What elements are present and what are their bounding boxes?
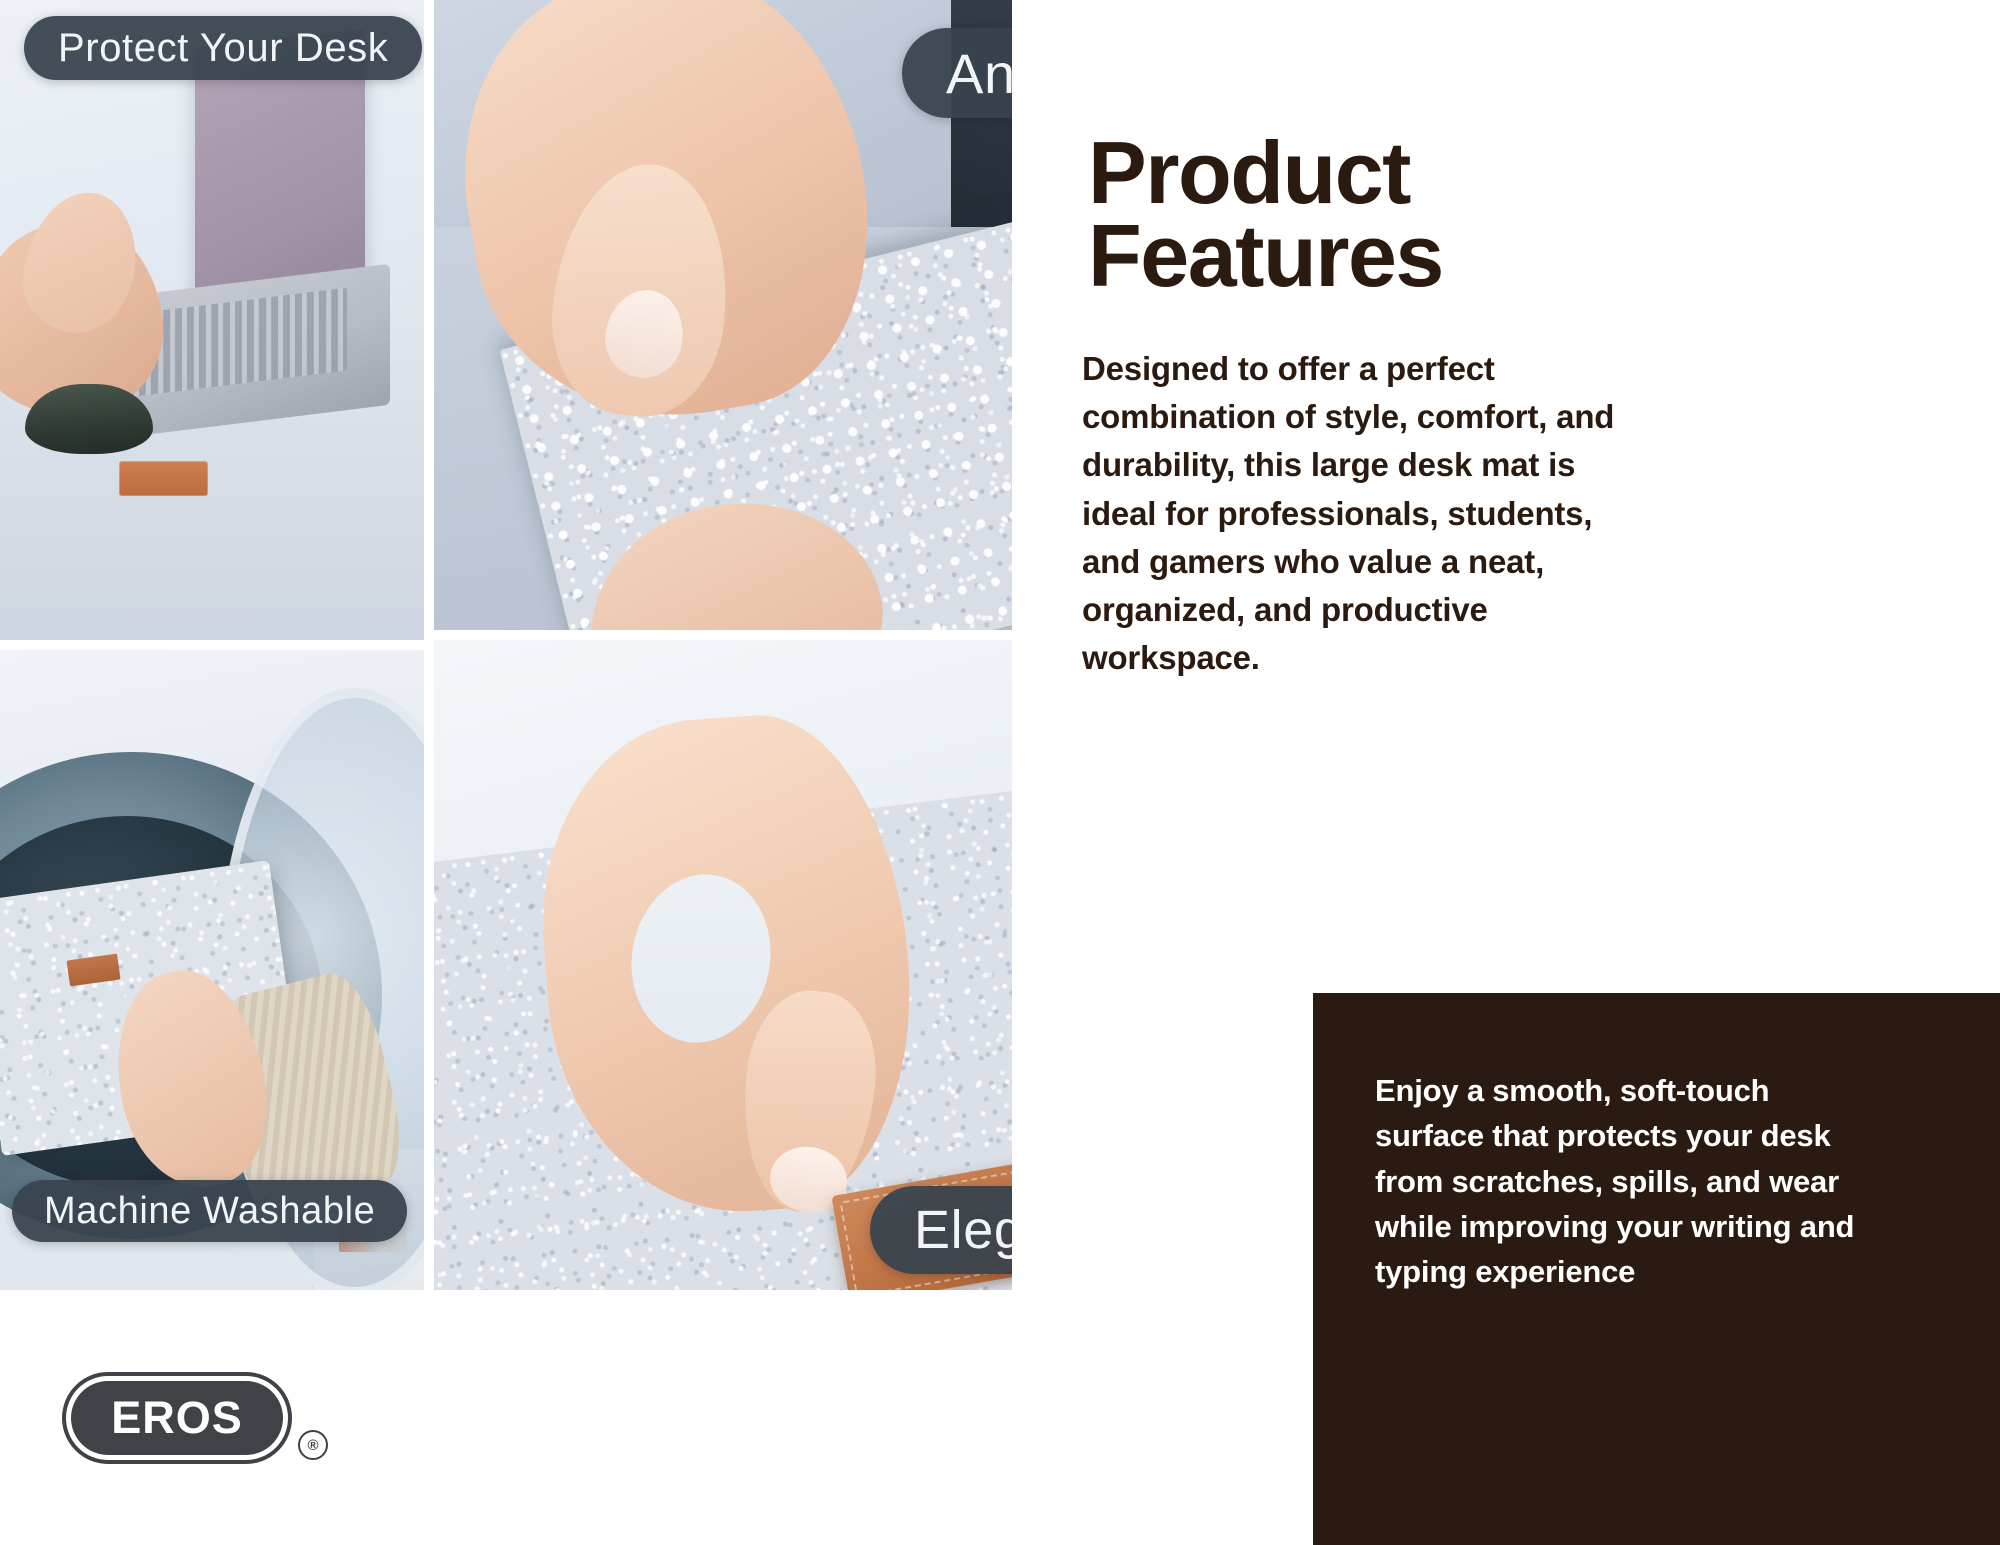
registered-trademark-icon: ® <box>298 1430 328 1460</box>
gallery-tile-protect-your-desk[interactable]: Protect Your Desk <box>0 0 424 640</box>
label-machine-washable: Machine Washable <box>12 1180 407 1242</box>
product-image-gallery: Protect Your Desk Anti-Slip Design <box>0 0 1012 1290</box>
page-title-line-2: Features <box>1088 215 1648 298</box>
label-protect-your-desk: Protect Your Desk <box>24 16 422 80</box>
brand-logo: EROS ® <box>62 1372 292 1464</box>
label-anti-slip-design: Anti-Slip Design <box>902 28 1012 118</box>
photo-protect-your-desk <box>0 0 424 640</box>
highlight-callout-text: Enjoy a smooth, soft-touch surface that … <box>1375 1068 1885 1294</box>
computer-mouse <box>25 384 152 454</box>
page-title: Product Features <box>1088 132 1648 297</box>
logo-pill-icon: EROS <box>71 1381 283 1455</box>
gallery-tile-elegant-to-the-touch[interactable]: EROS ® Elegant to the Touch <box>434 640 1012 1290</box>
logo-text: EROS <box>111 1392 243 1444</box>
gallery-tile-machine-washable[interactable]: Machine Washable <box>0 650 424 1290</box>
gallery-tile-anti-slip-design[interactable]: Anti-Slip Design <box>434 0 1012 630</box>
highlight-callout-block: Enjoy a smooth, soft-touch surface that … <box>1313 993 2000 1545</box>
label-elegant-to-the-touch: Elegant to the Touch <box>870 1186 1012 1274</box>
leather-tag <box>119 461 208 496</box>
lead-paragraph: Designed to offer a perfect combination … <box>1082 345 1642 682</box>
page-title-line-1: Product <box>1088 132 1648 215</box>
